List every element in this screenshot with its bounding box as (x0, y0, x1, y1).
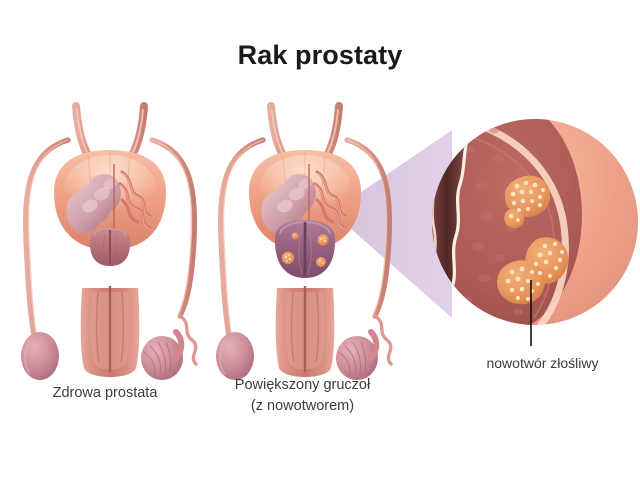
prostate (90, 228, 130, 266)
figure-enlarged-prostate (216, 106, 391, 380)
caption-healthy: Zdrowa prostata (10, 383, 200, 404)
caption-enlarged-line2: (z nowotworem) (205, 396, 400, 417)
figure-healthy-prostate (21, 106, 196, 380)
caption-enlarged: Powiększony gruczoł (z nowotworem) (205, 375, 400, 417)
label-malignant-tumor: nowotwór złośliwy (450, 353, 635, 374)
prostate-enlarged (275, 220, 335, 278)
caption-enlarged-line1: Powiększony gruczoł (205, 375, 400, 396)
